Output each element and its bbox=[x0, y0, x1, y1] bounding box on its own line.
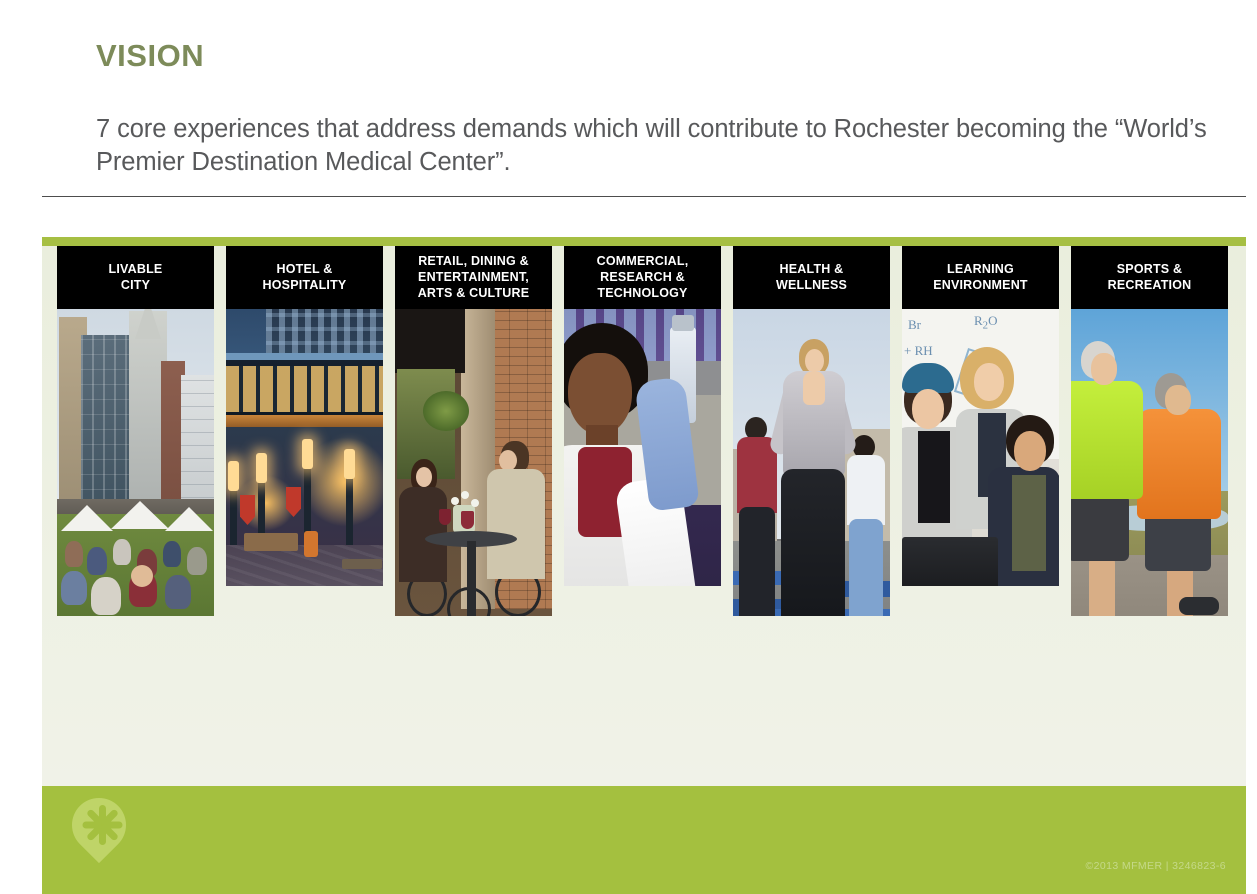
map-pin-flower-logo bbox=[72, 798, 126, 876]
column-label: SPORTS & RECREATION bbox=[1108, 261, 1192, 293]
slide-subtitle: 7 core experiences that address demands … bbox=[96, 113, 1216, 179]
footer-bar: ©2013 MFMER | 3246823-6 bbox=[42, 786, 1246, 894]
title-divider bbox=[42, 196, 1246, 197]
column-header-retail-dining-entertainment: RETAIL, DINING & ENTERTAINMENT, ARTS & C… bbox=[395, 246, 552, 309]
page-title: VISION bbox=[96, 38, 204, 74]
column-label: COMMERCIAL, RESEARCH & TECHNOLOGY bbox=[597, 253, 689, 301]
column-photo-health-wellness bbox=[733, 309, 890, 616]
column-photo-livable-city bbox=[57, 309, 214, 616]
column-header-learning-environment: LEARNING ENVIRONMENT bbox=[902, 246, 1059, 309]
column-photo-hotel-hospitality bbox=[226, 309, 383, 586]
experience-column-health-wellness[interactable]: HEALTH & WELLNESS bbox=[733, 246, 890, 616]
column-header-sports-recreation: SPORTS & RECREATION bbox=[1071, 246, 1228, 309]
column-photo-sports-recreation bbox=[1071, 309, 1228, 616]
column-label: HOTEL & HOSPITALITY bbox=[263, 261, 347, 293]
experience-column-livable-city[interactable]: LIVABLE CITY bbox=[57, 246, 214, 616]
column-label: LIVABLE CITY bbox=[109, 261, 163, 293]
experience-columns: LIVABLE CITY bbox=[42, 237, 1246, 856]
column-photo-learning-environment: Br + RH R2O bbox=[902, 309, 1059, 586]
copyright-credit: ©2013 MFMER | 3246823-6 bbox=[1086, 860, 1226, 872]
column-header-health-wellness: HEALTH & WELLNESS bbox=[733, 246, 890, 309]
column-header-commercial-research-technology: COMMERCIAL, RESEARCH & TECHNOLOGY bbox=[564, 246, 721, 309]
experience-column-commercial-research-technology[interactable]: COMMERCIAL, RESEARCH & TECHNOLOGY bbox=[564, 246, 721, 586]
column-label: LEARNING ENVIRONMENT bbox=[933, 261, 1028, 293]
column-photo-commercial-research-technology bbox=[564, 309, 721, 586]
column-label: HEALTH & WELLNESS bbox=[776, 261, 847, 293]
experience-column-hotel-hospitality[interactable]: HOTEL & HOSPITALITY bbox=[226, 246, 383, 586]
experience-column-learning-environment[interactable]: LEARNING ENVIRONMENT Br + RH R2O bbox=[902, 246, 1059, 586]
column-label: RETAIL, DINING & ENTERTAINMENT, ARTS & C… bbox=[418, 253, 530, 301]
column-header-livable-city: LIVABLE CITY bbox=[57, 246, 214, 309]
experience-column-sports-recreation[interactable]: SPORTS & RECREATION bbox=[1071, 246, 1228, 616]
experience-column-retail-dining-entertainment-arts-culture[interactable]: RETAIL, DINING & ENTERTAINMENT, ARTS & C… bbox=[395, 246, 552, 616]
column-header-hotel-hospitality: HOTEL & HOSPITALITY bbox=[226, 246, 383, 309]
column-photo-retail-dining-entertainment bbox=[395, 309, 552, 616]
